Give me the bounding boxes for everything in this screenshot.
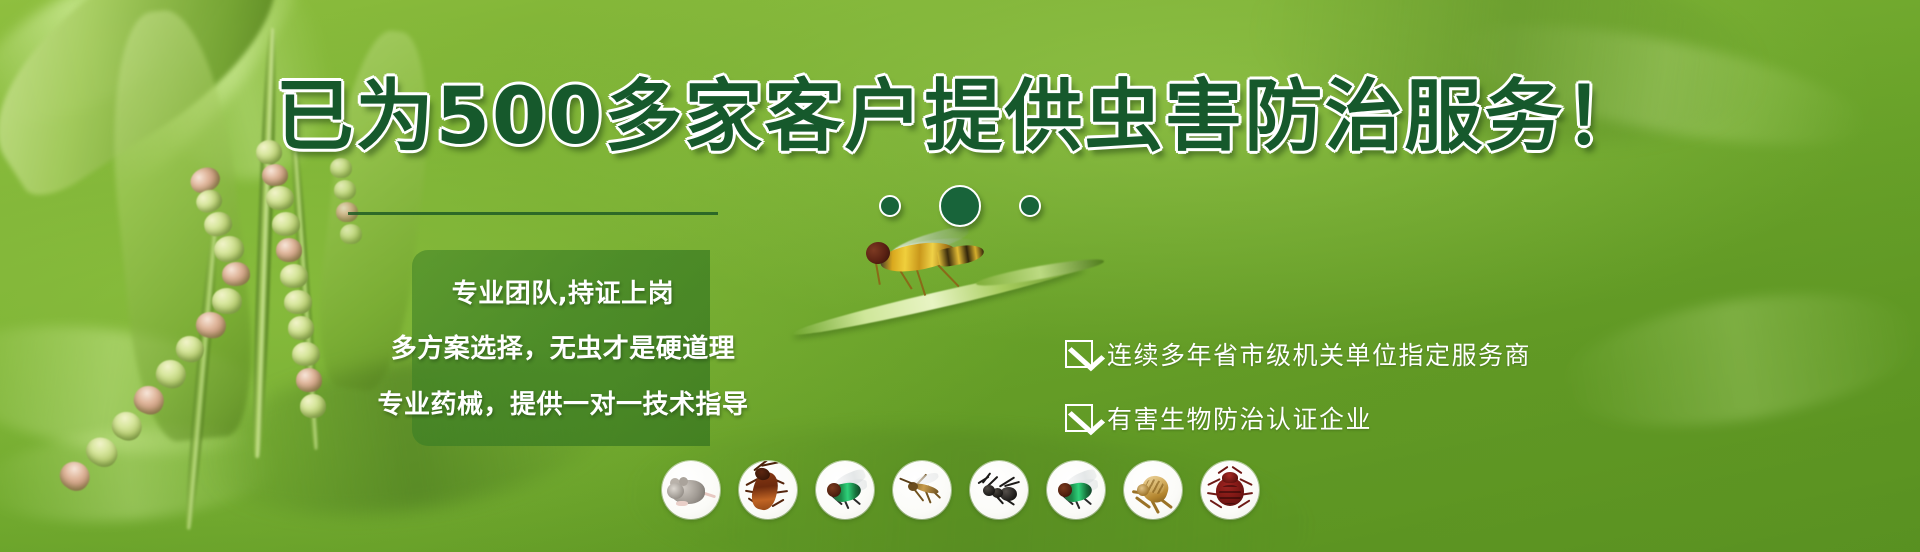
dot-small-right-icon <box>1019 195 1041 217</box>
feature-label: 连续多年省市级机关单位指定服务商 <box>1107 336 1531 372</box>
slogan-line-1: 专业团队,持证上岗 <box>452 273 674 310</box>
divider-rule <box>348 212 718 215</box>
flea-icon[interactable] <box>1124 461 1182 519</box>
slogan-line-3: 专业药械，提供一对一技术指导 <box>377 384 748 421</box>
feature-item: 有害生物防治认证企业 <box>1065 400 1531 436</box>
mouse-icon[interactable] <box>662 461 720 519</box>
dot-large-center-icon <box>939 185 981 227</box>
pest-icon-row <box>0 461 1920 519</box>
plant-stem-branch <box>975 255 1105 290</box>
checkbox-checked-icon <box>1065 340 1093 368</box>
decorative-dots <box>0 185 1920 227</box>
page-title: 已为500多家客户提供虫害防治服务！ <box>0 74 1920 160</box>
cockroach-icon[interactable] <box>739 461 797 519</box>
promo-banner: 已为500多家客户提供虫害防治服务！ 专业团队,持证上岗 多方案选择，无虫才是硬… <box>0 0 1920 552</box>
fly-icon[interactable] <box>816 461 874 519</box>
slogan-line-2: 多方案选择，无虫才是硬道理 <box>391 328 736 365</box>
slogan-list: 专业团队,持证上岗 多方案选择，无虫才是硬道理 专业药械，提供一对一技术指导 <box>348 250 778 446</box>
hoverfly-illustration <box>770 230 1210 340</box>
fly-icon-2[interactable] <box>1047 461 1105 519</box>
feature-item: 连续多年省市级机关单位指定服务商 <box>1065 336 1531 372</box>
ant-icon[interactable] <box>970 461 1028 519</box>
feature-list: 连续多年省市级机关单位指定服务商 有害生物防治认证企业 <box>1065 336 1531 436</box>
bedbug-icon[interactable] <box>1201 461 1259 519</box>
feature-label: 有害生物防治认证企业 <box>1107 400 1372 436</box>
checkbox-checked-icon <box>1065 404 1093 432</box>
dot-small-left-icon <box>879 195 901 217</box>
mosquito-icon[interactable] <box>893 461 951 519</box>
